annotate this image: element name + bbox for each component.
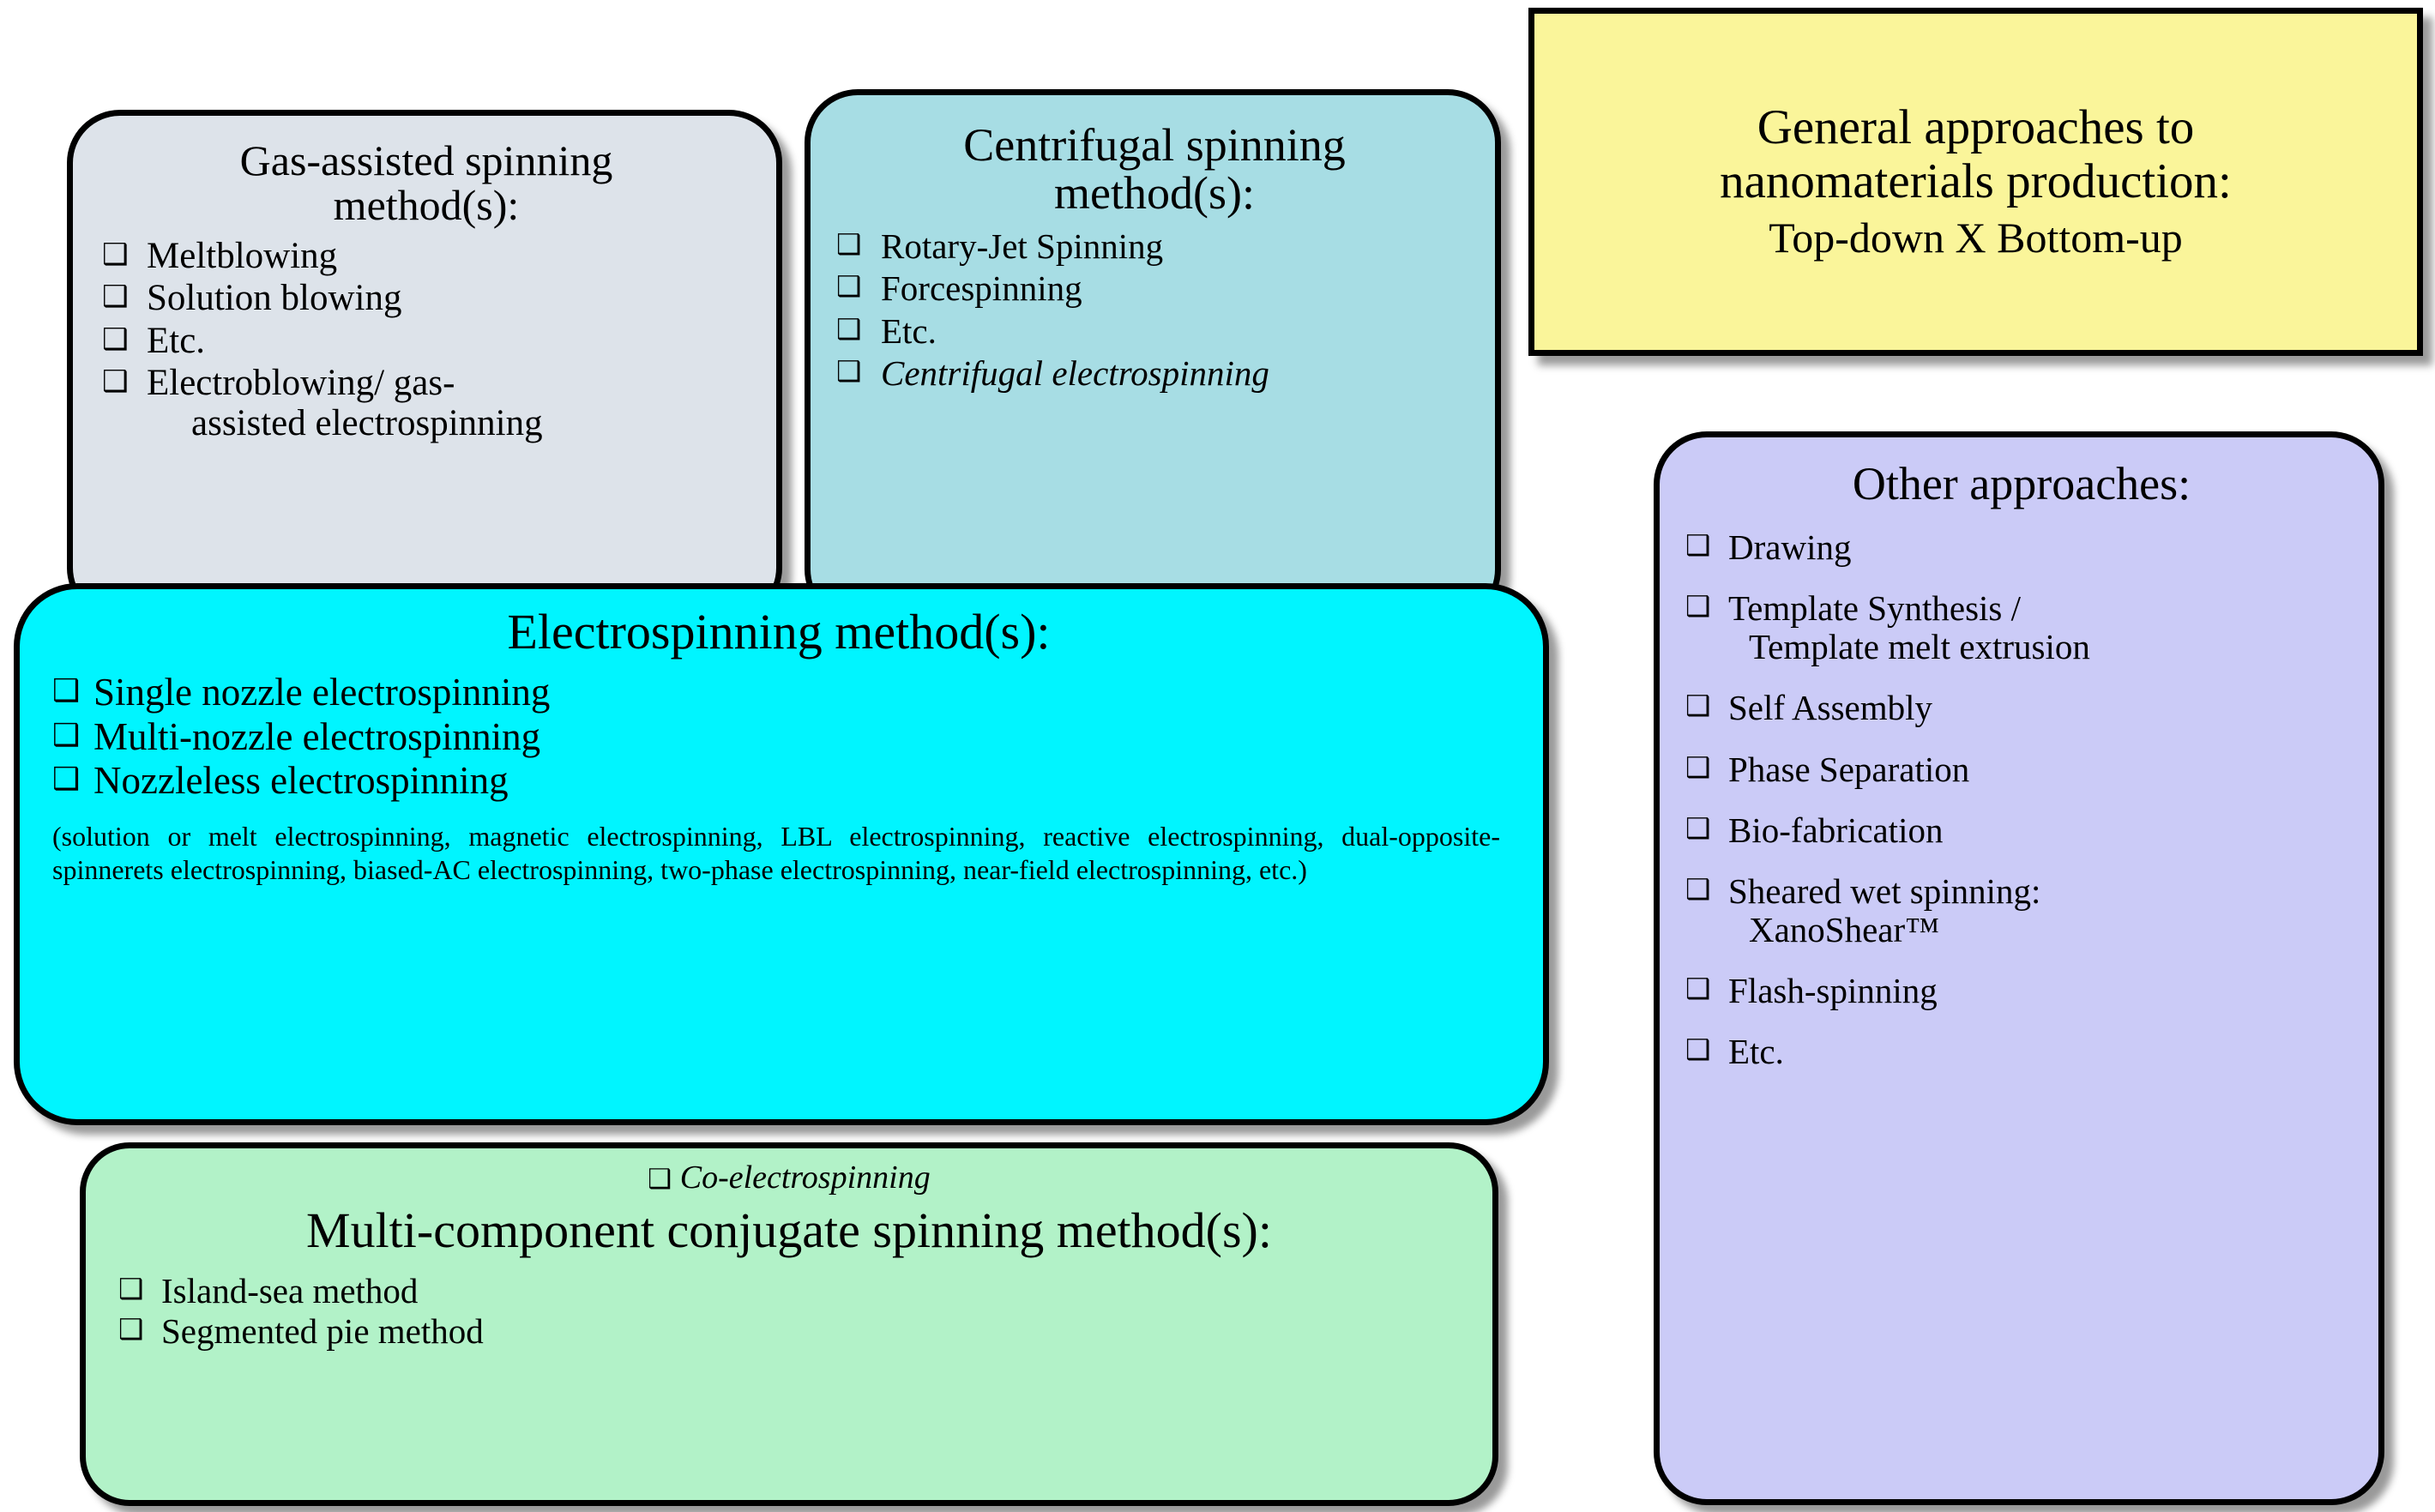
list-item: ❑ Electroblowing/ gas- assisted electros…: [102, 363, 750, 444]
centrifugal-spinning-box: Centrifugal spinning method(s): ❑ Rotary…: [805, 89, 1501, 623]
centrifugal-content: Centrifugal spinning method(s): ❑ Rotary…: [811, 95, 1495, 393]
centrifugal-heading-line2: method(s):: [836, 169, 1473, 217]
general-approaches-line2: nanomaterials production:: [1557, 155, 2395, 209]
diagram-canvas: Gas-assisted spinning method(s): ❑ Meltb…: [0, 0, 2435, 1512]
conjugate-list: ❑ Island-sea method ❑ Segmented pie meth…: [112, 1272, 1467, 1351]
list-item-label: Island-sea method: [161, 1271, 418, 1310]
gas-assisted-spinning-box: Gas-assisted spinning method(s): ❑ Meltb…: [67, 110, 782, 621]
list-item-label: Etc.: [881, 311, 937, 351]
gas-assisted-heading: Gas-assisted spinning method(s):: [102, 138, 750, 227]
electrospinning-list: ❑ Single nozzle electrospinning ❑ Multi-…: [52, 672, 1505, 803]
list-item-label: Drawing: [1728, 527, 1851, 567]
conjugate-content: ❑ Co-electrospinning Multi-component con…: [86, 1148, 1492, 1352]
checkbox-square-icon: ❑: [1685, 528, 1710, 564]
list-item: ❑ Multi-nozzle electrospinning: [52, 716, 1505, 759]
checkbox-square-icon: ❑: [52, 760, 80, 799]
list-item-label: Single nozzle electrospinning: [93, 671, 550, 714]
checkbox-square-icon: ❑: [102, 278, 129, 316]
checkbox-square-icon: ❑: [648, 1164, 672, 1195]
checkbox-square-icon: ❑: [52, 672, 80, 711]
list-item: ❑ Island-sea method: [118, 1272, 1467, 1310]
other-approaches-box: Other approaches: ❑ Drawing ❑ Template S…: [1654, 431, 2384, 1505]
gas-assisted-content: Gas-assisted spinning method(s): ❑ Meltb…: [73, 116, 776, 443]
list-item-label: Centrifugal electrospinning: [881, 353, 1269, 393]
list-item-label: Segmented pie method: [161, 1311, 484, 1351]
checkbox-square-icon: ❑: [1685, 750, 1710, 786]
list-item: ❑ Drawing: [1685, 528, 2358, 567]
other-approaches-list: ❑ Drawing ❑ Template Synthesis / Templat…: [1685, 528, 2358, 1071]
other-approaches-content: Other approaches: ❑ Drawing ❑ Template S…: [1660, 437, 2378, 1071]
list-item-label: Phase Separation: [1728, 750, 1969, 789]
gas-assisted-heading-line1: Gas-assisted spinning: [102, 138, 750, 183]
gas-assisted-heading-line2: method(s):: [102, 183, 750, 227]
list-item-label: Template Synthesis /: [1728, 588, 2021, 628]
list-item: ❑ Single nozzle electrospinning: [52, 672, 1505, 714]
general-approaches-content: General approaches to nanomaterials prod…: [1534, 14, 2417, 350]
list-item: ❑ Self Assembly: [1685, 689, 2358, 727]
list-item-label: Meltblowing: [147, 236, 337, 276]
list-item: ❑ Etc.: [836, 312, 1473, 351]
checkbox-square-icon: ❑: [1685, 589, 1710, 625]
co-electrospinning-label: Co-electrospinning: [680, 1160, 931, 1196]
checkbox-square-icon: ❑: [52, 716, 80, 756]
list-item-label: Self Assembly: [1728, 688, 1932, 727]
list-item-label: Etc.: [147, 321, 205, 361]
general-approaches-line3: Top-down X Bottom-up: [1557, 213, 2395, 262]
checkbox-square-icon: ❑: [836, 354, 861, 390]
electrospinning-content: Electrospinning method(s): ❑ Single nozz…: [20, 589, 1543, 887]
list-item: ❑ Bio-fabrication: [1685, 811, 2358, 850]
multi-component-conjugate-spinning-box: ❑ Co-electrospinning Multi-component con…: [80, 1142, 1498, 1506]
checkbox-square-icon: ❑: [1685, 1033, 1710, 1069]
list-item: ❑ Etc.: [1685, 1033, 2358, 1071]
electrospinning-box: Electrospinning method(s): ❑ Single nozz…: [14, 583, 1549, 1125]
list-item-label: Flash-spinning: [1728, 971, 1938, 1010]
list-item-label: Solution blowing: [147, 278, 401, 318]
checkbox-square-icon: ❑: [102, 321, 129, 358]
conjugate-heading: Multi-component conjugate spinning metho…: [112, 1205, 1467, 1256]
list-item: ❑ Meltblowing: [102, 236, 750, 276]
list-item-label: Sheared wet spinning:: [1728, 871, 2040, 911]
list-item: ❑ Segmented pie method: [118, 1312, 1467, 1351]
list-item: ❑ Forcespinning: [836, 269, 1473, 308]
list-item-label: Bio-fabrication: [1728, 810, 1943, 850]
checkbox-square-icon: ❑: [1685, 811, 1710, 847]
list-item: ❑ Sheared wet spinning: XanoShear™: [1685, 872, 2358, 949]
checkbox-square-icon: ❑: [836, 312, 861, 348]
other-approaches-heading: Other approaches:: [1685, 460, 2358, 508]
general-approaches-title-box: General approaches to nanomaterials prod…: [1528, 8, 2423, 356]
checkbox-square-icon: ❑: [1685, 872, 1710, 908]
checkbox-square-icon: ❑: [118, 1312, 143, 1348]
centrifugal-list: ❑ Rotary-Jet Spinning ❑ Forcespinning ❑ …: [836, 227, 1473, 392]
general-approaches-line1: General approaches to: [1557, 101, 2395, 155]
list-item: ❑ Phase Separation: [1685, 750, 2358, 789]
list-item: ❑ Centrifugal electrospinning: [836, 354, 1473, 393]
electrospinning-heading: Electrospinning method(s):: [52, 606, 1505, 658]
list-item-label: Nozzleless electrospinning: [93, 759, 509, 802]
checkbox-square-icon: ❑: [1685, 972, 1710, 1008]
list-item: ❑ Flash-spinning: [1685, 972, 2358, 1010]
list-item-label: Electroblowing/ gas-: [147, 363, 455, 403]
list-item: ❑ Nozzleless electrospinning: [52, 760, 1505, 803]
checkbox-square-icon: ❑: [836, 227, 861, 263]
list-item-label: Forcespinning: [881, 268, 1082, 308]
list-item: ❑ Etc.: [102, 321, 750, 361]
checkbox-square-icon: ❑: [102, 363, 129, 401]
list-item-label-continuation: XanoShear™: [1728, 911, 2358, 949]
list-item: ❑ Rotary-Jet Spinning: [836, 227, 1473, 266]
list-item-label: Multi-nozzle electrospinning: [93, 715, 540, 758]
co-electrospinning-row: ❑ Co-electrospinning: [112, 1159, 1467, 1196]
checkbox-square-icon: ❑: [836, 269, 861, 305]
list-item-label: Etc.: [1728, 1032, 1784, 1071]
checkbox-square-icon: ❑: [1685, 689, 1710, 725]
list-item-label-continuation: Template melt extrusion: [1728, 628, 2358, 666]
list-item-label-continuation: assisted electrospinning: [147, 403, 750, 443]
electrospinning-variants-note: (solution or melt electrospinning, magne…: [52, 820, 1505, 887]
centrifugal-heading: Centrifugal spinning method(s):: [836, 121, 1473, 217]
checkbox-square-icon: ❑: [102, 236, 129, 274]
checkbox-square-icon: ❑: [118, 1272, 143, 1308]
gas-assisted-list: ❑ Meltblowing ❑ Solution blowing ❑ Etc. …: [102, 236, 750, 443]
centrifugal-heading-line1: Centrifugal spinning: [836, 121, 1473, 169]
list-item-label: Rotary-Jet Spinning: [881, 226, 1163, 266]
list-item: ❑ Solution blowing: [102, 278, 750, 318]
list-item: ❑ Template Synthesis / Template melt ext…: [1685, 589, 2358, 666]
